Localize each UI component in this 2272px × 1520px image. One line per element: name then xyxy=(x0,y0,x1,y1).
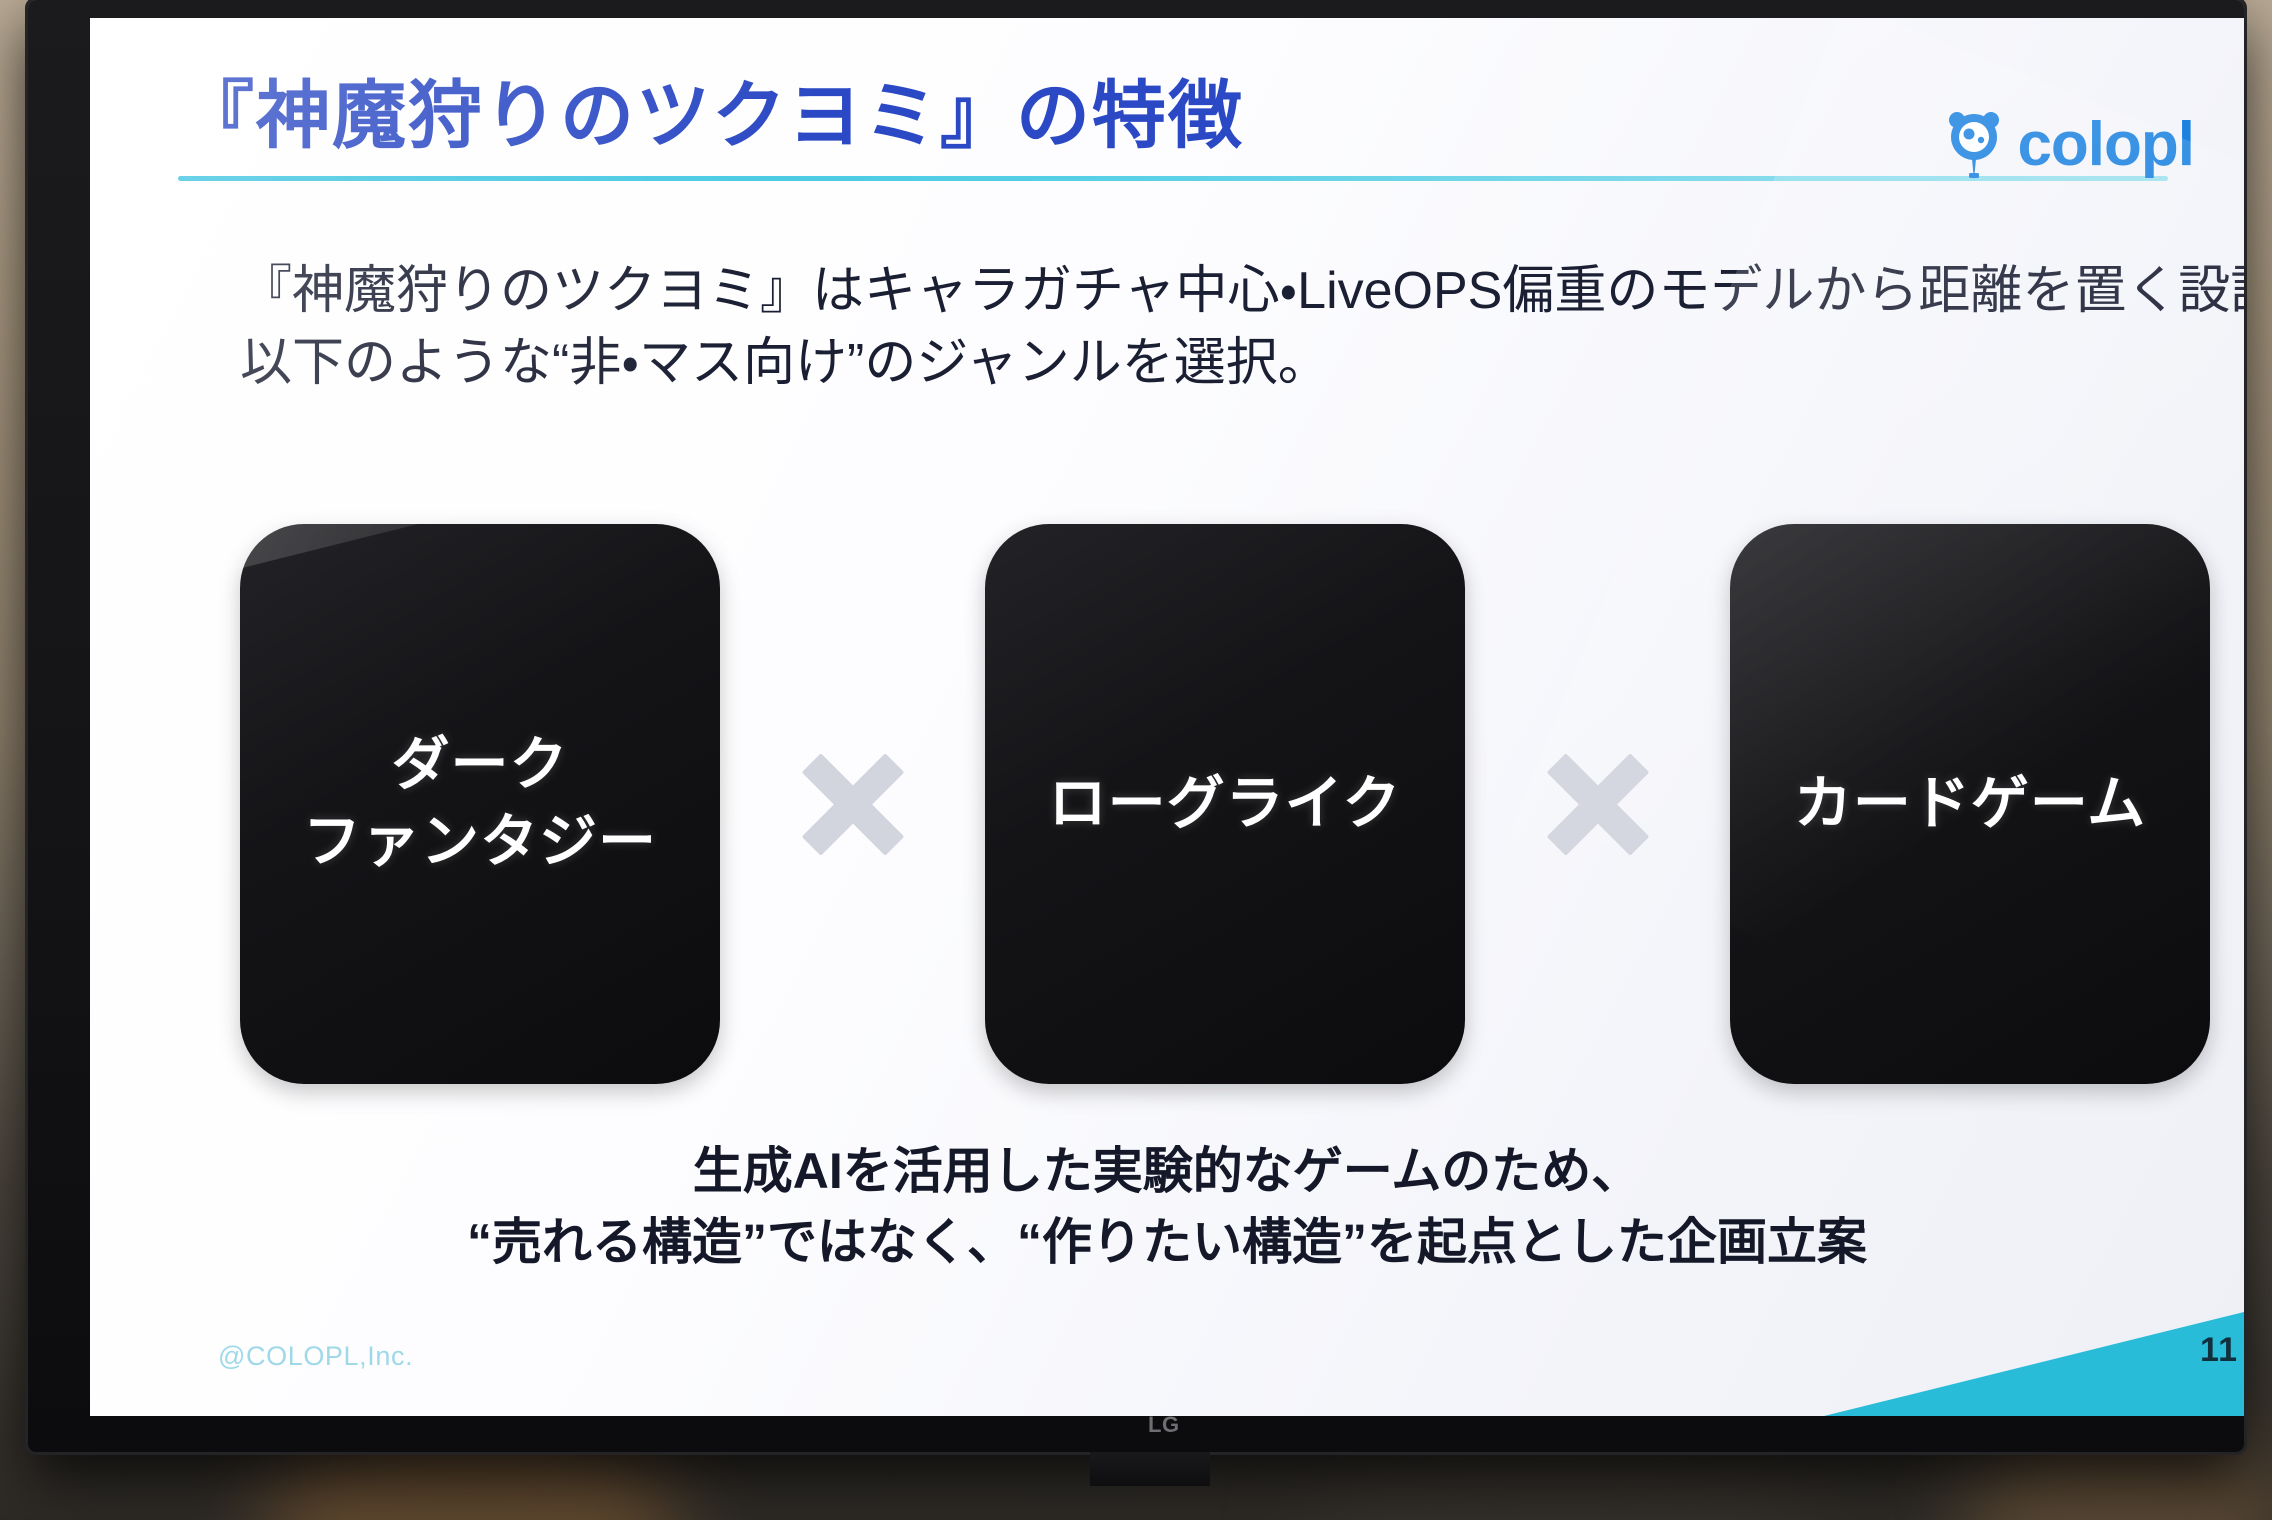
genre-card-label: ダーク ファンタジー xyxy=(303,727,657,880)
title-underline-rule xyxy=(178,176,2168,181)
lead-line-1: 『神魔狩りのツクヨミ』はキャラガチャ中心・LiveOPS偏重のモデルから距離を置… xyxy=(240,256,2220,328)
genre-card-line: ローグライク xyxy=(1049,766,1402,843)
genre-card-line: ファンタジー xyxy=(303,804,657,881)
slide-caption: 生成AIを活用した実験的なゲームのため、 “売れる構造”ではなく、“作りたい構造… xyxy=(90,1136,2244,1278)
genre-card-row: ダーク ファンタジー ローグライク カードゲーム xyxy=(240,514,2210,1094)
genre-card-roguelike: ローグライク xyxy=(985,524,1465,1084)
genre-card-label: ローグライク xyxy=(1049,766,1402,843)
copyright-footer: @COLOPL,Inc. xyxy=(218,1341,413,1372)
room-background: 『神魔狩りのツクヨミ』の特徴 colopl xyxy=(0,0,2272,1520)
brand-wordmark: colopl xyxy=(2017,114,2194,176)
tv-bezel: 『神魔狩りのツクヨミ』の特徴 colopl xyxy=(28,0,2244,1452)
colopl-balloon-bear-logo-icon xyxy=(1943,110,2005,180)
genre-card-line: カードゲーム xyxy=(1794,766,2146,843)
genre-card-line: ダーク xyxy=(303,727,657,804)
caption-line-1: 生成AIを活用した実験的なゲームのため、 xyxy=(90,1136,2244,1207)
genre-card-label: カードゲーム xyxy=(1794,766,2146,843)
tv-screen: 『神魔狩りのツクヨミ』の特徴 colopl xyxy=(90,18,2244,1416)
x-cross-icon xyxy=(1538,744,1658,864)
page-title: 『神魔狩りのツクヨミ』の特徴 xyxy=(180,56,1244,163)
lead-line-2: 以下のような“非・マス向け”のジャンルを選択。 xyxy=(240,328,2220,400)
tv-brand-logo: LG xyxy=(1148,1412,1180,1438)
lead-paragraph: 『神魔狩りのツクヨミ』はキャラガチャ中心・LiveOPS偏重のモデルから距離を置… xyxy=(240,256,2220,400)
genre-card-card-game: カードゲーム xyxy=(1730,524,2210,1084)
x-cross-icon xyxy=(793,744,913,864)
page-number: 11 xyxy=(2200,1331,2238,1370)
caption-line-2: “売れる構造”ではなく、“作りたい構造”を起点とした企画立案 xyxy=(90,1207,2244,1278)
brand-logo: colopl xyxy=(1943,110,2194,180)
corner-wedge-decoration xyxy=(1824,1312,2244,1416)
genre-card-dark-fantasy: ダーク ファンタジー xyxy=(240,524,720,1084)
tv-stand xyxy=(1090,1452,1210,1486)
presentation-slide: 『神魔狩りのツクヨミ』の特徴 colopl xyxy=(90,18,2244,1416)
